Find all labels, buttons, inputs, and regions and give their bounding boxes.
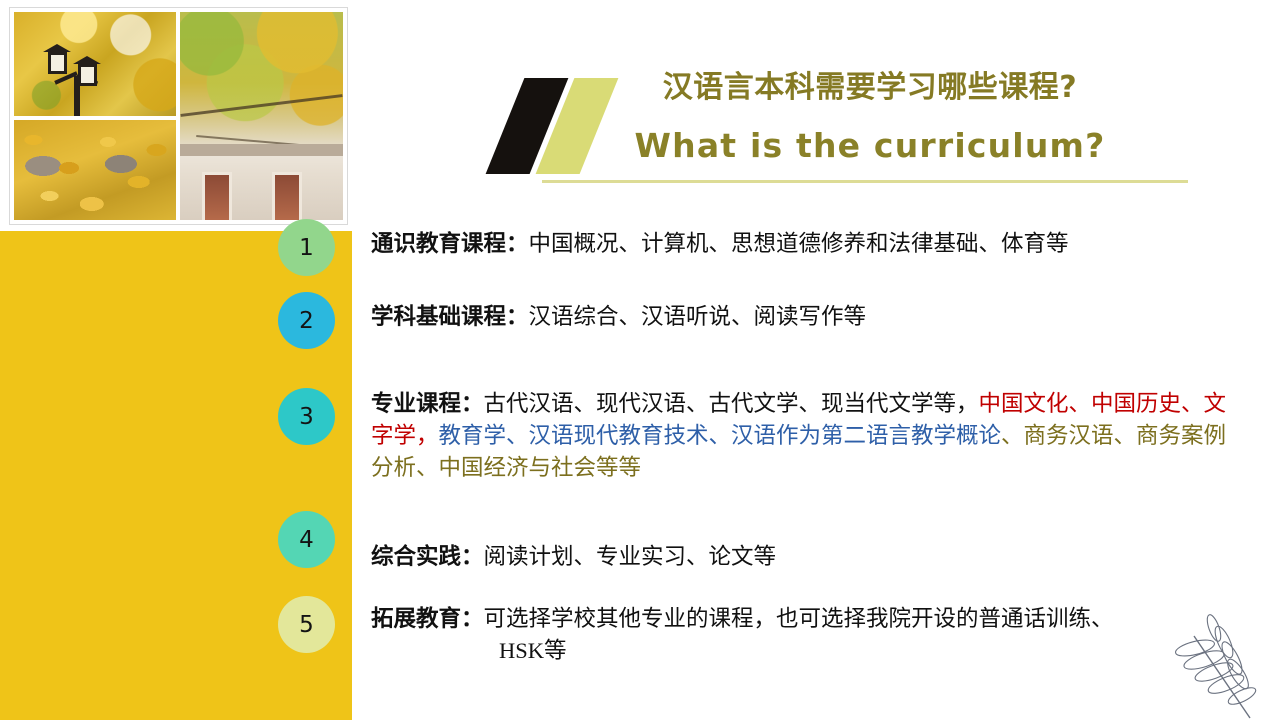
list-item-5-body: 可选择学校其他专业的课程，也可选择我院开设的普通话训练、 (484, 606, 1114, 631)
photo-fallen-ginkgo-leaves-ground (14, 120, 176, 220)
list-item-4-body: 阅读计划、专业实习、论文等 (484, 544, 777, 569)
building (180, 144, 343, 220)
list-item-1: 通识教育课程：中国概况、计算机、思想道德修养和法律基础、体育等 (371, 228, 1231, 260)
photo-autumn-street-lamp-ginkgo (14, 12, 176, 116)
list-number-4: 4 (299, 527, 314, 553)
list-item-1-label: 通识教育课程： (371, 231, 529, 256)
list-item-5-label: 拓展教育： (371, 606, 484, 631)
page-title-chinese: 汉语言本科需要学习哪些课程? (540, 62, 1200, 108)
list-item-3: 专业课程：古代汉语、现代汉语、古代文学、现当代文学等，中国文化、中国历史、文字学… (371, 388, 1241, 484)
tree-branch (180, 94, 342, 117)
page-title-english: What is the curriculum? (540, 126, 1200, 172)
list-item-3-body-black: 古代汉语、现代汉语、古代文学、现当代文学等， (484, 391, 979, 416)
title-divider (542, 180, 1188, 183)
list-number-badge-4: 4 (278, 511, 335, 568)
photo-ginkgo-branch-over-building (180, 12, 343, 220)
list-number-badge-1: 1 (278, 219, 335, 276)
list-item-5: 拓展教育：可选择学校其他专业的课程，也可选择我院开设的普通话训练、HSK等 (371, 603, 1251, 667)
list-item-3-body-blue: 教育学、汉语现代教育技术、汉语作为第二语言教学概论 (439, 423, 1002, 448)
street-lamp-icon (48, 38, 106, 116)
list-number-1: 1 (299, 235, 314, 261)
list-item-2-label: 学科基础课程： (371, 304, 529, 329)
collage-right-column (180, 12, 343, 220)
collage-left-column (14, 12, 176, 220)
list-number-5: 5 (299, 612, 314, 638)
photo-collage (10, 8, 347, 224)
leaf-sprig-icon (1154, 600, 1274, 720)
list-number-badge-2: 2 (278, 292, 335, 349)
list-item-2-body: 汉语综合、汉语听说、阅读写作等 (529, 304, 867, 329)
list-item-2: 学科基础课程：汉语综合、汉语听说、阅读写作等 (371, 301, 1231, 333)
list-item-1-body: 中国概况、计算机、思想道德修养和法律基础、体育等 (529, 231, 1069, 256)
list-number-badge-3: 3 (278, 388, 335, 445)
list-item-3-label: 专业课程： (371, 391, 484, 416)
list-item-4: 综合实践：阅读计划、专业实习、论文等 (371, 541, 1231, 573)
list-item-5-body-line2: HSK等 (371, 638, 567, 663)
list-number-3: 3 (299, 404, 314, 430)
list-item-4-label: 综合实践： (371, 544, 484, 569)
list-number-2: 2 (299, 308, 314, 334)
list-number-badge-5: 5 (278, 596, 335, 653)
